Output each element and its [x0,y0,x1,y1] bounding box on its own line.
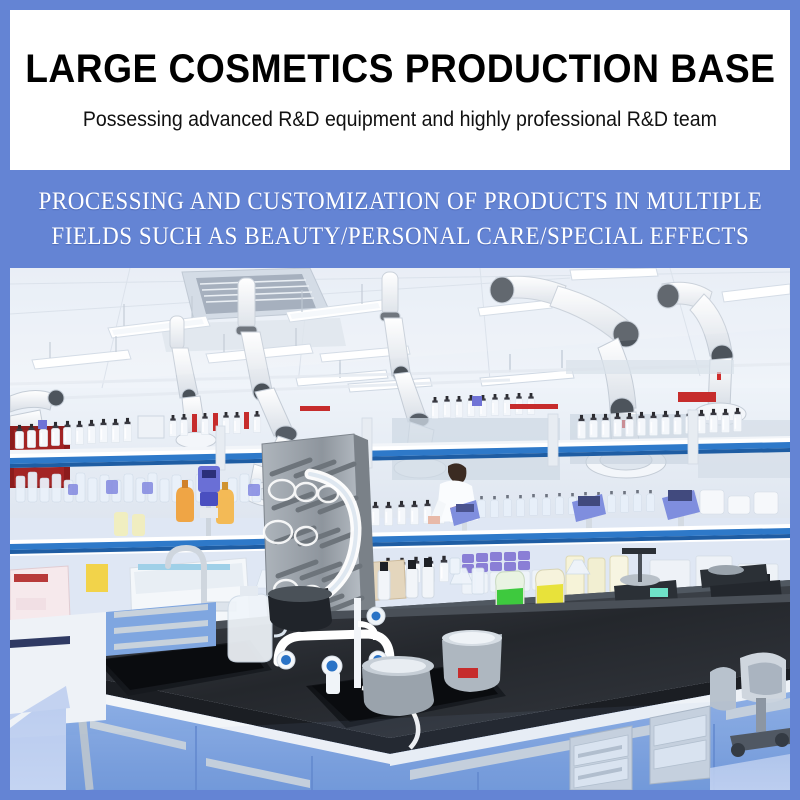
strapline-band: PROCESSING AND CUSTOMIZATION OF PRODUCTS… [0,170,800,268]
laboratory-illustration [10,268,790,790]
bench-pot-left [268,586,332,632]
strapline-line-2: FIELDS SUCH AS BEAUTY/PERSONAL CARE/SPEC… [51,219,749,255]
page-subtitle: Possessing advanced R&D equipment and hi… [83,108,717,131]
pink-instrument [10,566,70,624]
page-title: LARGE COSMETICS PRODUCTION BASE [25,48,775,90]
header-card: LARGE COSMETICS PRODUCTION BASE Possessi… [10,10,790,170]
strapline-line-1: PROCESSING AND CUSTOMIZATION OF PRODUCTS… [38,184,762,220]
laboratory-photo [10,268,790,790]
bench-stockpot [362,656,434,716]
stainless-bucket [442,630,502,692]
promo-banner: LARGE COSMETICS PRODUCTION BASE Possessi… [0,0,800,800]
red-label [678,392,716,402]
yellow-box [86,564,108,592]
